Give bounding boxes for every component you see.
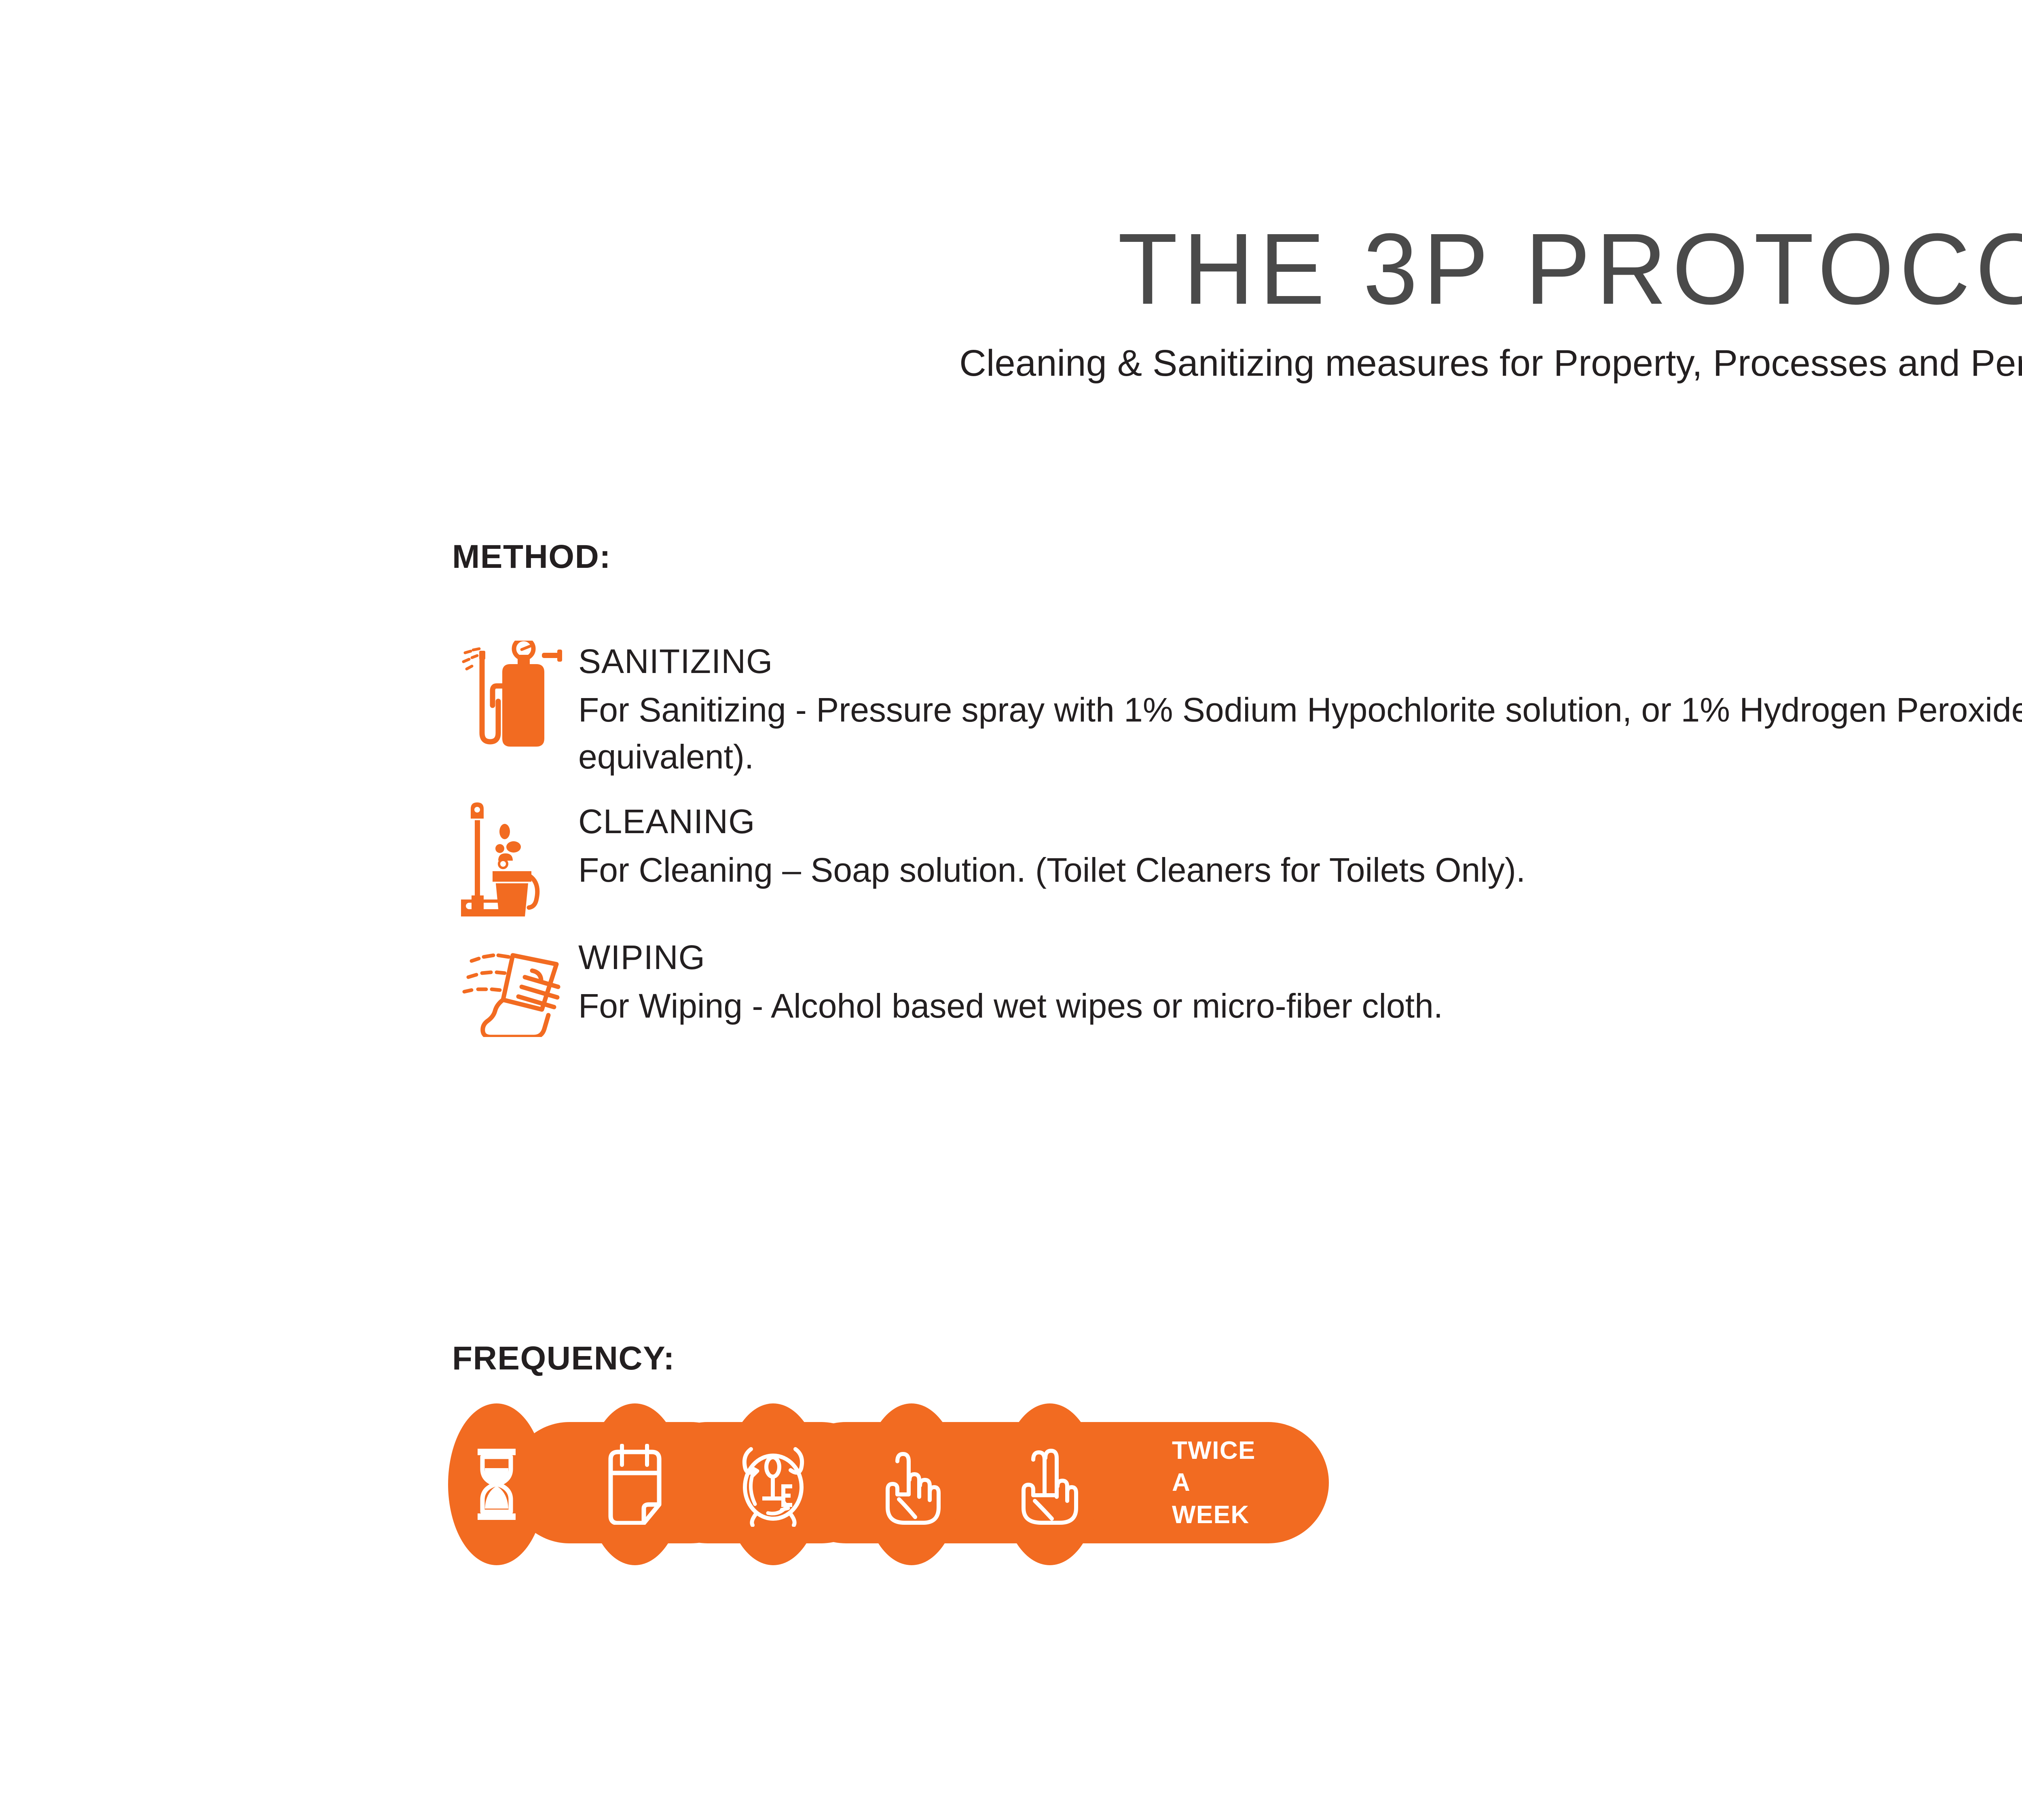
page-title: THE 3P PROTOCOL <box>49 218 2022 320</box>
method-item-cleaning: CLEANING For Cleaning – Soap solution. (… <box>445 799 2022 916</box>
frequency-badge-regular-intervals[interactable]: REGULAR INTERVALS <box>725 1403 822 1565</box>
method-description: For Wiping - Alcohol based wet wipes or … <box>578 983 2022 1030</box>
frequency-badge-every-day[interactable]: EVERY DAY <box>586 1403 683 1565</box>
badge-pill: TWICE A WEEK <box>1062 1422 1329 1543</box>
frequency-badge-twice-a-week[interactable]: TWICE A WEEK <box>1001 1403 1098 1565</box>
method-section-label: METHOD: <box>452 538 611 576</box>
method-text-cleaning: CLEANING For Cleaning – Soap solution. (… <box>578 799 2022 894</box>
page-subtitle: Cleaning & Sanitizing measures for Prope… <box>0 320 2022 385</box>
method-title: WIPING <box>578 938 2022 976</box>
alarm-clock-icon <box>739 1442 808 1527</box>
hourglass-icon <box>473 1444 520 1525</box>
method-title: SANITIZING <box>578 642 2022 680</box>
badge-circle <box>1001 1403 1098 1565</box>
method-item-sanitizing: SANITIZING For Sanitizing - Pressure spr… <box>445 639 2022 781</box>
badge-circle <box>586 1403 683 1565</box>
method-item-wiping: WIPING For Wiping - Alcohol based wet wi… <box>445 935 2022 1044</box>
wiping-hand-cloth-icon <box>445 935 578 1044</box>
method-list: SANITIZING For Sanitizing - Pressure spr… <box>445 639 2022 1063</box>
badge-circle <box>725 1403 822 1565</box>
frequency-badge-every-hour[interactable]: EVERY HOUR <box>448 1403 545 1565</box>
method-description: For Cleaning – Soap solution. (Toilet Cl… <box>578 847 2022 894</box>
method-title: CLEANING <box>578 802 2022 840</box>
calendar-icon <box>607 1444 663 1525</box>
method-description: For Sanitizing - Pressure spray with 1% … <box>578 687 2022 781</box>
frequency-section-label: FREQUENCY: <box>452 1340 675 1378</box>
frequency-badge-once-a-week[interactable]: ONCE A WEEK <box>863 1403 960 1565</box>
method-text-sanitizing: SANITIZING For Sanitizing - Pressure spr… <box>578 639 2022 781</box>
method-text-wiping: WIPING For Wiping - Alcohol based wet wi… <box>578 935 2022 1030</box>
badge-circle <box>448 1403 545 1565</box>
page-header: THE 3P PROTOCOL Cleaning & Sanitizing me… <box>0 0 2022 385</box>
mop-bucket-icon <box>445 799 578 916</box>
hand-one-finger-icon <box>881 1442 942 1527</box>
badge-label: TWICE A WEEK <box>1172 1435 1329 1531</box>
frequency-badge-row: EVERY HOUR EVERY DAY <box>448 1403 1140 1565</box>
badge-circle <box>863 1403 960 1565</box>
pressure-sprayer-icon <box>445 639 578 748</box>
hand-two-fingers-icon <box>1019 1442 1080 1527</box>
